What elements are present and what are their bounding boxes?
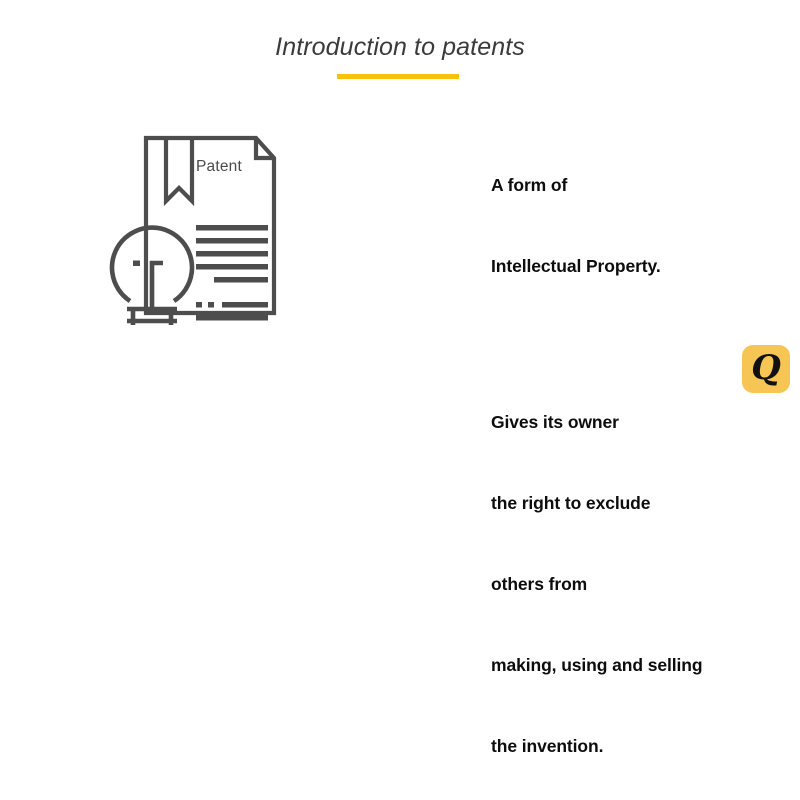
doc-bullet-dash [196, 302, 202, 308]
slide-canvas: Introduction to patents A form of Intell… [0, 0, 800, 400]
body-line: others from [491, 571, 791, 598]
body-line: A form of [491, 172, 791, 199]
doc-line [196, 264, 268, 270]
patent-document-icon [100, 125, 290, 325]
lightbulb-filament [152, 263, 163, 309]
doc-line [196, 225, 268, 231]
body-line: making, using and selling [491, 652, 791, 679]
doc-bullet-dash [208, 302, 214, 308]
body-line: Gives its owner [491, 409, 791, 436]
doc-line [196, 238, 268, 244]
doc-line-short [214, 277, 268, 283]
body-text-block: A form of Intellectual Property. Gives i… [491, 118, 791, 800]
document-label: Patent [196, 158, 242, 176]
body-line: the right to exclude [491, 490, 791, 517]
bookmark-ribbon [166, 138, 192, 201]
doc-line [222, 302, 268, 308]
title-underline-accent [337, 74, 459, 79]
body-line: Intellectual Property. [491, 253, 791, 280]
lightbulb-icon [112, 228, 192, 325]
body-line: the invention. [491, 733, 791, 760]
brand-logo-glyph: Q [751, 351, 781, 385]
doc-line [196, 251, 268, 257]
patent-document-illustration: Patent [100, 125, 290, 325]
brand-logo: Q [742, 345, 790, 393]
doc-line [196, 315, 268, 321]
page-title: Introduction to patents [0, 33, 800, 62]
lightbulb-filament-dash [133, 261, 140, 267]
document-text-lines [196, 225, 268, 325]
